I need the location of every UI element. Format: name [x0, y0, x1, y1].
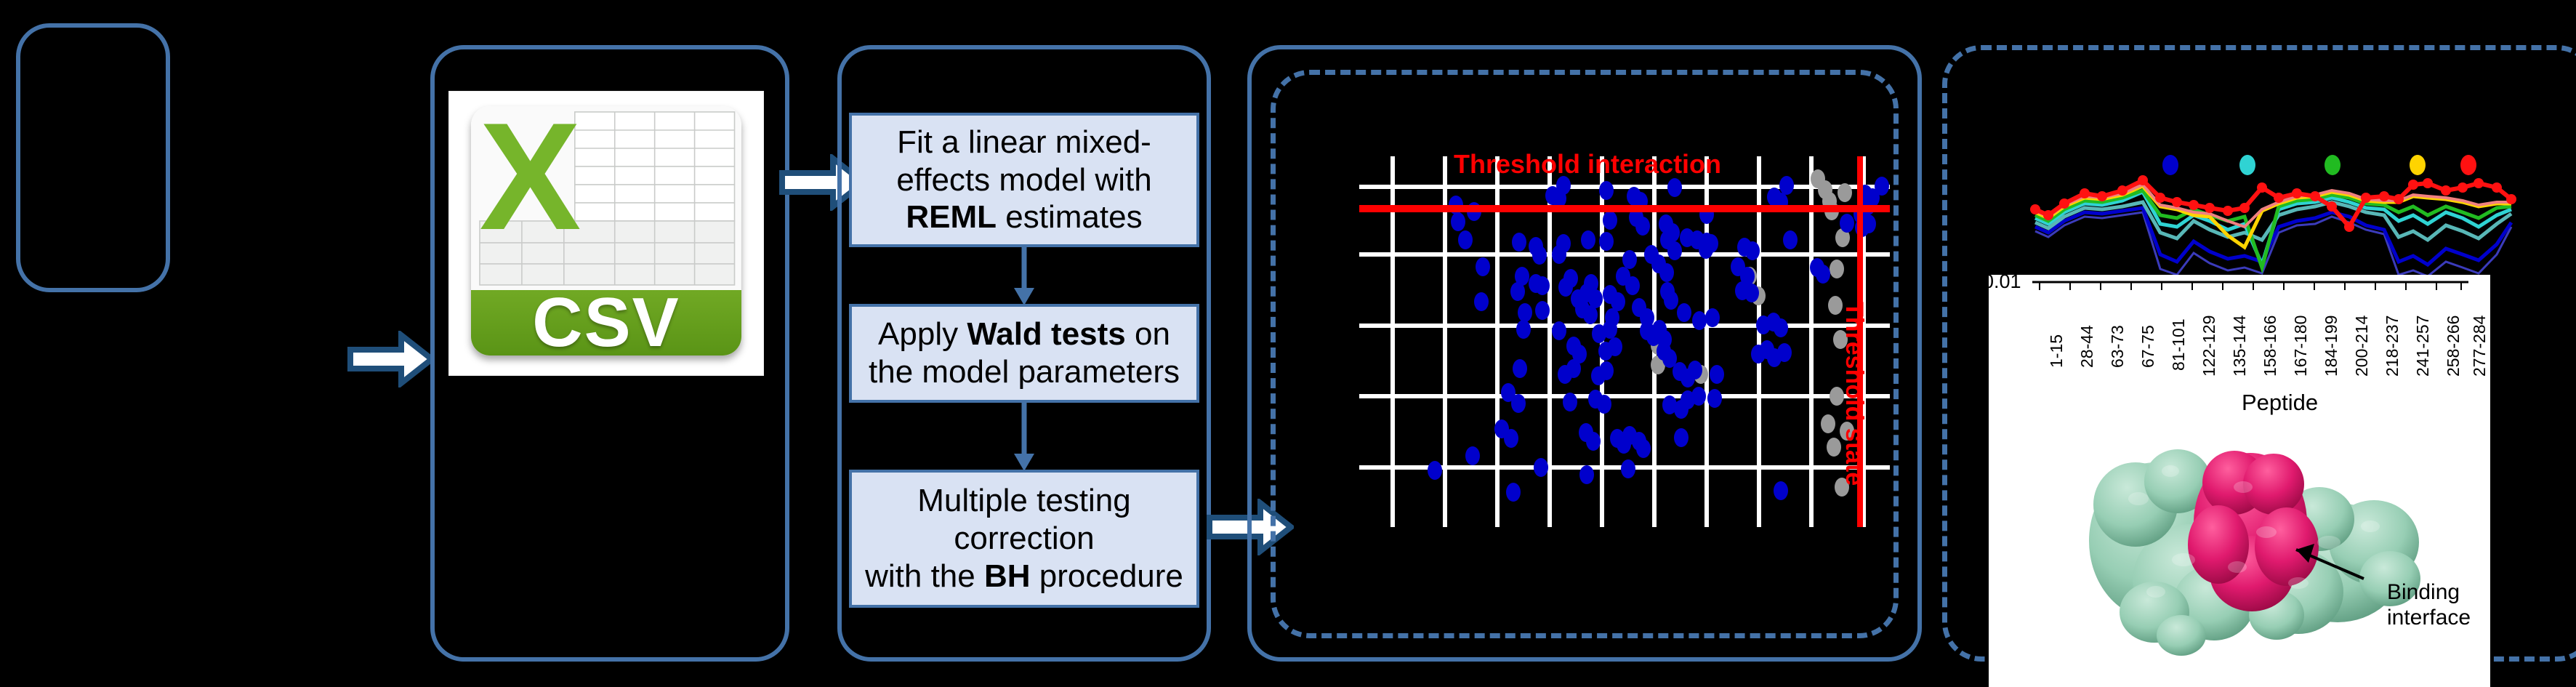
peptide-tick-2: 63-73: [2108, 325, 2128, 368]
peptide-tick-0: 1-15: [2047, 334, 2066, 368]
binding-interface-annotation: Binding interface: [2387, 580, 2471, 630]
process-box-fit-model-text: Fit a linear mixed- effects model with R…: [896, 124, 1151, 237]
peptide-tick-14: 277-284: [2470, 316, 2490, 377]
protein-structure: [2069, 417, 2425, 672]
line-2: correction: [954, 521, 1094, 556]
line-1: Apply Wald tests on: [878, 316, 1170, 352]
peptide-tick-8: 167-180: [2291, 316, 2311, 377]
flowchart-canvas: X CSV Fit a linear mixed- effects model …: [0, 0, 2576, 687]
peptide-tick-1: 28-44: [2077, 325, 2097, 368]
peptide-tick-3: 67-75: [2138, 325, 2158, 368]
peptide-tick-5: 122-129: [2199, 316, 2219, 377]
peptide-tick-7: 158-166: [2261, 316, 2280, 377]
line-2: the model parameters: [869, 354, 1180, 390]
legend-dot-blue: [2162, 155, 2178, 175]
line-2: effects model with: [896, 162, 1151, 198]
peptide-tick-12: 241-257: [2413, 316, 2433, 377]
legend-dot-green: [2325, 155, 2340, 175]
volcano-threshold-state-label: Threshold state: [1840, 302, 1868, 486]
legend-dot-red: [2460, 155, 2476, 175]
connector-fit-to-wald: [1012, 247, 1037, 307]
process-box-fit-model[interactable]: Fit a linear mixed- effects model with R…: [849, 113, 1199, 247]
binding-interface-line-1: Binding: [2387, 580, 2471, 606]
peptide-tick-9: 184-199: [2322, 316, 2341, 377]
peptide-tick-10: 200-214: [2352, 316, 2372, 377]
process-box-bh-correction[interactable]: Multiple testing correction with the BH …: [849, 470, 1199, 608]
entry-arrow: [347, 331, 435, 387]
line-3: with the BH procedure: [865, 558, 1183, 594]
csv-extension-label: CSV: [532, 283, 680, 355]
chart-legend: [2162, 155, 2468, 177]
binding-interface-line-2: interface: [2387, 606, 2471, 631]
peptide-tick-6: 135-144: [2230, 316, 2250, 377]
legend-dot-cyan: [2239, 155, 2255, 175]
peptide-tick-11: 218-237: [2383, 316, 2402, 377]
csv-x-letter: X: [479, 106, 571, 216]
process-box-bh-correction-text: Multiple testing correction with the BH …: [865, 482, 1183, 595]
input-panel: [16, 23, 170, 292]
line-1: Fit a linear mixed-: [897, 124, 1151, 160]
line-3: REML estimates: [906, 199, 1142, 235]
process-box-wald-tests[interactable]: Apply Wald tests on the model parameters: [849, 304, 1199, 403]
y-axis-tick-label: 0.01: [1989, 275, 2021, 293]
line-1: Multiple testing: [917, 483, 1130, 518]
csv-extension-band: CSV: [471, 290, 741, 355]
csv-tile: X CSV: [471, 106, 741, 355]
volcano-plot: Threshold interaction: [1359, 156, 1890, 527]
volcano-plot-svg: [1359, 156, 1890, 527]
volcano-threshold-interaction-label: Threshold interaction: [1454, 149, 1721, 180]
peptide-tick-13: 258-266: [2444, 316, 2463, 377]
legend-dot-yellow: [2410, 155, 2426, 175]
connector-wald-to-bh: [1012, 403, 1037, 473]
csv-file-icon: X CSV: [449, 92, 763, 375]
process-box-wald-tests-text: Apply Wald tests on the model parameters: [869, 316, 1180, 391]
result-figure-card: 0.01 1-15 28-44 63-73 67-75 81-101 122-1…: [1989, 275, 2490, 687]
x-axis-title: Peptide: [2242, 390, 2318, 416]
x-axis: [2032, 281, 2468, 292]
peptide-tick-4: 81-101: [2169, 318, 2189, 371]
